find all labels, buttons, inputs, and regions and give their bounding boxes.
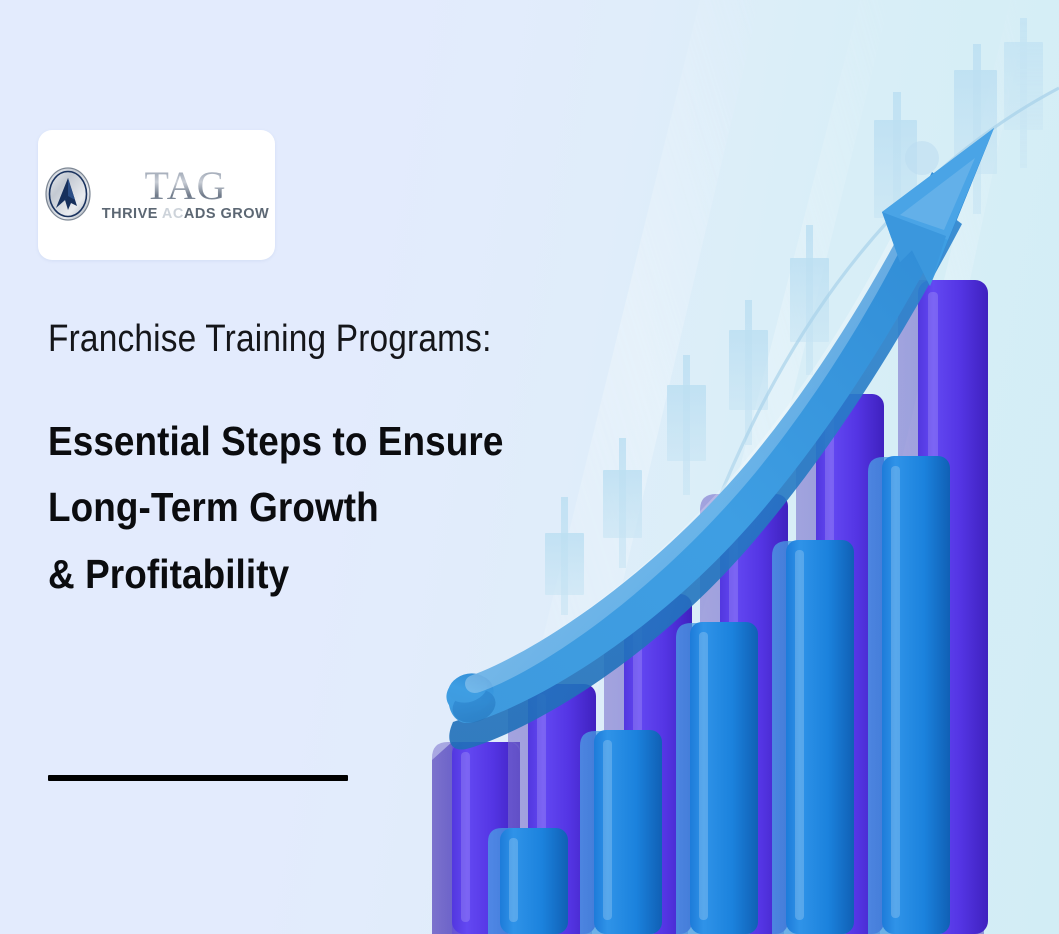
logo-wordmark: TAG: [144, 166, 226, 206]
logo-tagline-part-1: THRIVE: [102, 206, 162, 222]
logo-tagline-part-3: C: [173, 206, 184, 222]
bar-blue-3: [676, 622, 758, 934]
bar-blue-2: [580, 730, 662, 934]
headline-block: Essential Steps to Ensure Long-Term Grow…: [48, 408, 503, 607]
logo-tagline-part-4: ADS: [184, 206, 221, 222]
headline-line-1: Essential Steps to Ensure: [48, 408, 503, 474]
kicker-text: Franchise Training Programs:: [48, 318, 492, 361]
tag-swoosh-emblem-icon: [44, 166, 92, 222]
logo-tagline-part-5: GROW: [221, 206, 270, 222]
bar-blue-1: [488, 828, 568, 934]
bar-blue-4: [772, 540, 854, 934]
bar-blue-5: [868, 456, 950, 934]
divider-rule: [48, 775, 348, 781]
logo-tagline: THRIVE ACADS GROW: [102, 207, 270, 222]
headline-line-3: & Profitability: [48, 541, 503, 607]
logo-tagline-part-2: A: [162, 206, 173, 222]
brand-logo-card[interactable]: TAG THRIVE ACADS GROW: [38, 130, 275, 260]
poster-canvas: TAG THRIVE ACADS GROW Franchise Training…: [0, 0, 1059, 934]
headline-line-2: Long-Term Growth: [48, 474, 503, 540]
